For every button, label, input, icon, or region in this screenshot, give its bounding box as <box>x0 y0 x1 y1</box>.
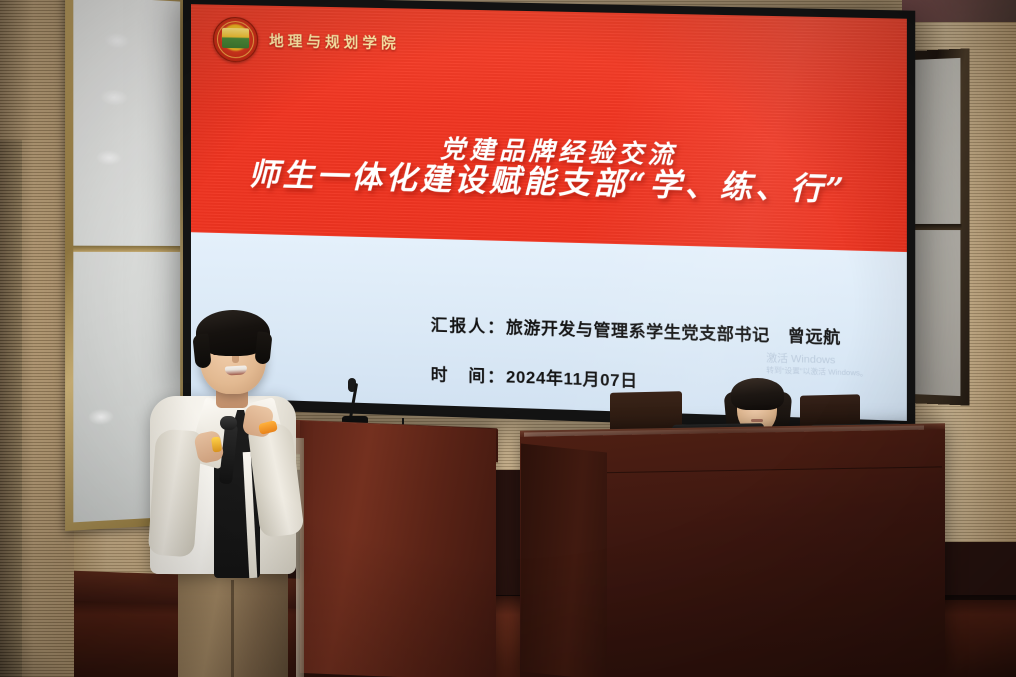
podium <box>300 421 496 677</box>
presenter-value: 旅游开发与管理系学生党支部书记 曾远航 <box>506 319 841 348</box>
date-label: 时 间： <box>431 366 506 387</box>
desk-side-panel <box>521 443 607 677</box>
presentation-photo-scene: 地理与规划学院 党建品牌经验交流 师生一体化建设赋能支部“学、练、行” 汇报人：… <box>0 0 1016 677</box>
handheld-microphone-head <box>220 416 237 430</box>
speaker-arm-left <box>148 429 203 558</box>
slide-organization-name: 地理与规划学院 <box>269 30 400 54</box>
left-wall-edge <box>0 140 22 677</box>
slide-header: 地理与规划学院 <box>213 17 400 66</box>
presenter-clicker-left <box>211 436 222 452</box>
windows-activation-watermark: 激活 Windows 转到“设置”以激活 Windows。 <box>766 352 867 378</box>
board-light-reflection-2 <box>100 89 128 106</box>
speaker-leg-seam <box>231 580 234 677</box>
presenter-label: 汇报人： <box>431 316 506 336</box>
attendee-mouth <box>751 419 763 422</box>
date-value: 2024年11月07日 <box>506 368 638 390</box>
speaker-hair-side-left <box>192 333 211 368</box>
projection-screen: 地理与规划学院 党建品牌经验交流 师生一体化建设赋能支部“学、练、行” 汇报人：… <box>191 4 907 421</box>
left-whiteboard-divider <box>73 246 180 252</box>
attendee-hair-top <box>731 378 784 410</box>
board-light-reflection-3 <box>96 150 122 166</box>
projection-screen-bezel: 地理与规划学院 党建品牌经验交流 师生一体化建设赋能支部“学、练、行” 汇报人：… <box>183 0 915 432</box>
school-emblem-icon <box>213 17 258 63</box>
